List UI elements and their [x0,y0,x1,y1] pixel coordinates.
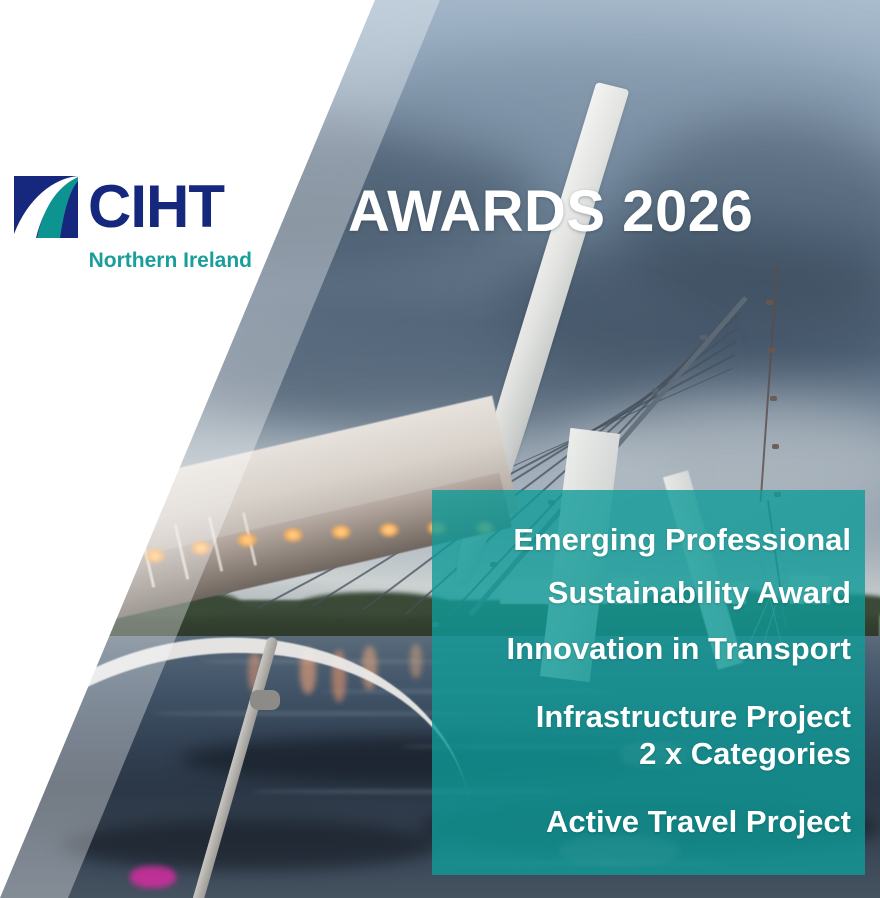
category-item: Emerging Professional [432,524,865,555]
category-item: Active Travel Project [432,806,865,837]
ciht-wordmark: CIHT [88,177,224,237]
category-item: Sustainability Award [432,577,865,608]
ciht-region-label: Northern Ireland [14,249,264,273]
walkway-lamp [330,524,352,540]
cable-clamp [652,388,659,393]
tree-cluster [300,592,450,616]
ciht-logo[interactable]: CIHT Northern Ireland [14,176,264,273]
chain-link [772,444,779,449]
walkway-lamp [282,527,304,543]
category-item: 2 x Categories [432,738,865,769]
light-reflection [410,644,422,678]
walkway-lamp [378,522,400,538]
walkway-lamp [236,532,258,548]
chain-link [766,300,773,305]
awards-poster: CIHT Northern Ireland AWARDS 2026 Emergi… [0,0,880,898]
chain-link [768,348,775,353]
category-item: Innovation in Transport [432,633,865,664]
award-categories-panel: Emerging Professional Sustainability Awa… [432,490,865,875]
category-item: Infrastructure Project [432,701,865,732]
cable-clamp [700,335,707,340]
ciht-road-swoosh-icon [14,176,78,238]
handrail-fitting [250,690,280,710]
chain-link [770,396,777,401]
page-title: AWARDS 2026 [348,178,753,245]
